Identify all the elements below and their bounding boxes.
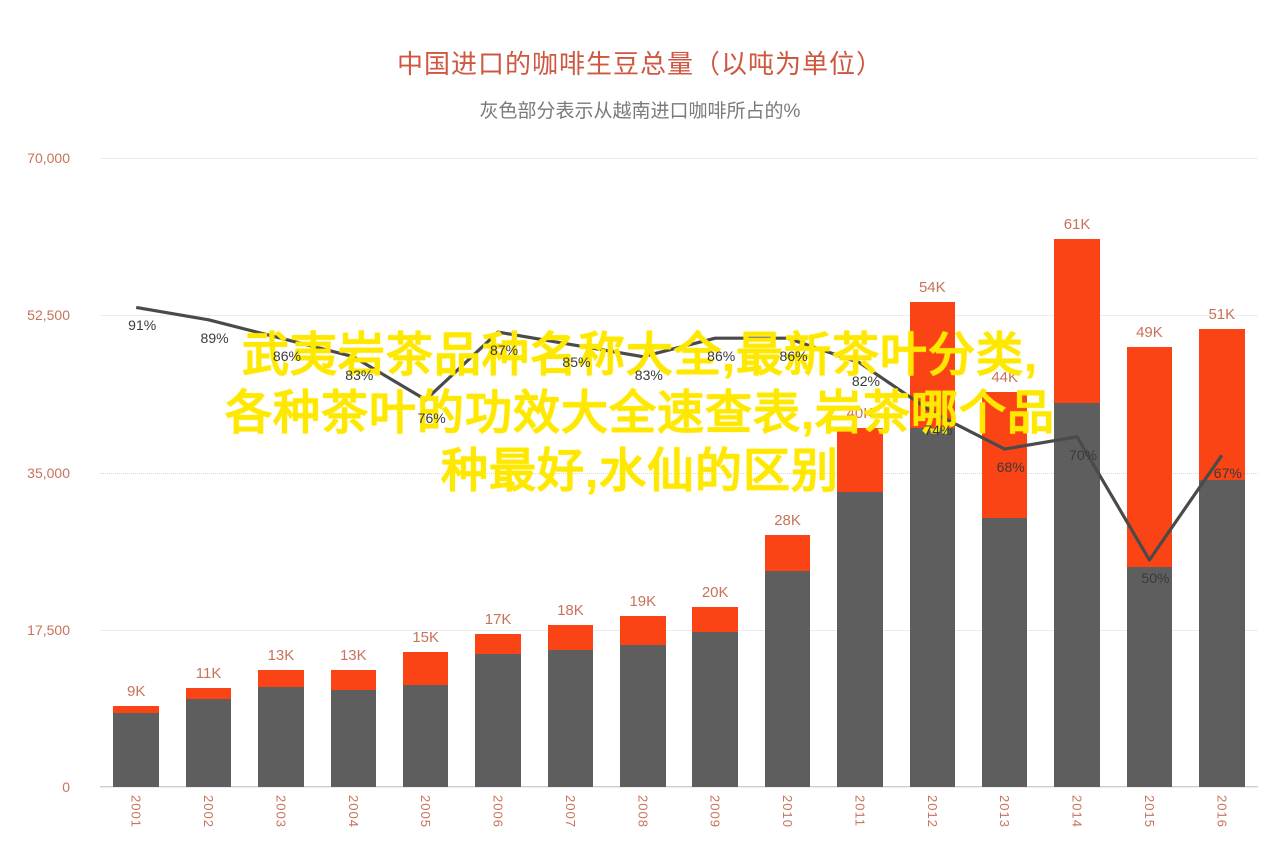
bar-2013[interactable] <box>982 392 1028 787</box>
bar-segment-vietnam <box>186 699 232 787</box>
bar-2014[interactable] <box>1054 239 1100 787</box>
chart-container: 中国进口的咖啡生豆总量（以吨为单位） 灰色部分表示从越南进口咖啡所占的% 017… <box>0 0 1280 853</box>
y-axis-tick: 35,000 <box>27 465 70 481</box>
bar-segment-vietnam <box>910 428 956 787</box>
y-axis-tick: 0 <box>62 779 70 795</box>
bar-2003[interactable] <box>258 670 304 787</box>
bar-value-label: 44K <box>991 369 1018 386</box>
percentage-label-2012: 74% <box>924 422 952 438</box>
bar-2001[interactable] <box>113 706 159 787</box>
percentage-label-2005: 76% <box>418 410 446 426</box>
bar-segment-vietnam <box>113 713 159 787</box>
percentage-label-2006: 87% <box>490 342 518 358</box>
gridline <box>100 787 1258 788</box>
percentage-label-2011: 82% <box>852 373 880 389</box>
percentage-label-2010: 86% <box>780 348 808 364</box>
bar-value-label: 20K <box>702 584 729 601</box>
percentage-label-2001: 91% <box>128 317 156 333</box>
percentage-label-2013: 68% <box>997 459 1025 475</box>
bar-segment-vietnam <box>1199 480 1245 787</box>
bar-value-label: 54K <box>919 279 946 296</box>
percentage-label-2002: 89% <box>201 330 229 346</box>
percentage-label-2008: 83% <box>635 367 663 383</box>
x-axis-tick-2015: 2015 <box>1142 795 1157 828</box>
x-axis-tick-2001: 2001 <box>129 795 144 828</box>
plot-area: 017,50035,00052,50070,0009K11K13K13K15K1… <box>100 158 1258 787</box>
x-axis-tick-2009: 2009 <box>708 795 723 828</box>
percentage-label-2003: 86% <box>273 348 301 364</box>
bar-2008[interactable] <box>620 616 666 787</box>
x-axis-tick-2013: 2013 <box>997 795 1012 828</box>
bar-2012[interactable] <box>910 302 956 787</box>
bar-value-label: 13K <box>268 647 295 664</box>
bar-segment-vietnam <box>475 654 521 787</box>
bar-segment-vietnam <box>982 518 1028 787</box>
bar-segment-vietnam <box>620 645 666 787</box>
x-axis-tick-2016: 2016 <box>1214 795 1229 828</box>
bar-2015[interactable] <box>1127 347 1173 787</box>
percentage-label-2015: 50% <box>1141 570 1169 586</box>
bar-2016[interactable] <box>1199 329 1245 787</box>
bar-2010[interactable] <box>765 535 811 787</box>
x-axis-tick-2012: 2012 <box>925 795 940 828</box>
x-axis-tick-2014: 2014 <box>1070 795 1085 828</box>
chart-subtitle: 灰色部分表示从越南进口咖啡所占的% <box>0 96 1280 123</box>
bar-value-label: 51K <box>1208 306 1235 323</box>
gridline <box>100 158 1258 159</box>
bar-value-label: 19K <box>629 593 656 610</box>
bar-value-label: 28K <box>774 512 801 529</box>
bar-value-label: 17K <box>485 611 512 628</box>
bar-segment-vietnam <box>258 687 304 787</box>
x-axis-tick-2010: 2010 <box>780 795 795 828</box>
bar-value-label: 61K <box>1064 216 1091 233</box>
bar-segment-vietnam <box>765 571 811 787</box>
bar-2006[interactable] <box>475 634 521 787</box>
bar-segment-vietnam <box>1127 567 1173 787</box>
percentage-label-2016: 67% <box>1214 465 1242 481</box>
y-axis-tick: 52,500 <box>27 307 70 323</box>
bar-2005[interactable] <box>403 652 449 787</box>
x-axis-tick-2008: 2008 <box>635 795 650 828</box>
bar-segment-vietnam <box>692 632 738 787</box>
bar-value-label: 11K <box>196 665 222 682</box>
bar-value-label: 13K <box>340 647 367 664</box>
x-axis-tick-2006: 2006 <box>491 795 506 828</box>
percentage-label-2007: 85% <box>562 354 590 370</box>
bar-value-label: 18K <box>557 602 584 619</box>
bar-value-label: 15K <box>412 629 439 646</box>
bar-segment-vietnam <box>548 650 594 787</box>
bar-value-label: 9K <box>127 683 145 700</box>
percentage-label-2004: 83% <box>345 367 373 383</box>
bar-2007[interactable] <box>548 625 594 787</box>
bar-2009[interactable] <box>692 607 738 787</box>
y-axis-tick: 17,500 <box>27 622 70 638</box>
chart-title: 中国进口的咖啡生豆总量（以吨为单位） <box>0 44 1280 81</box>
y-axis-tick: 70,000 <box>27 150 70 166</box>
x-axis-tick-2005: 2005 <box>418 795 433 828</box>
bar-value-label: 40K <box>847 405 874 422</box>
bar-segment-vietnam <box>331 690 377 787</box>
percentage-label-2014: 70% <box>1069 447 1097 463</box>
bar-2011[interactable] <box>837 428 883 787</box>
x-axis-tick-2007: 2007 <box>563 795 578 828</box>
x-axis-tick-2011: 2011 <box>852 795 867 827</box>
x-axis-tick-2002: 2002 <box>201 795 216 828</box>
bar-2004[interactable] <box>331 670 377 787</box>
x-axis-tick-2003: 2003 <box>273 795 288 828</box>
bar-value-label: 49K <box>1136 324 1163 341</box>
bar-2002[interactable] <box>186 688 232 787</box>
bar-segment-vietnam <box>837 492 883 787</box>
x-axis-tick-2004: 2004 <box>346 795 361 828</box>
bar-segment-vietnam <box>403 685 449 787</box>
percentage-label-2009: 86% <box>707 348 735 364</box>
